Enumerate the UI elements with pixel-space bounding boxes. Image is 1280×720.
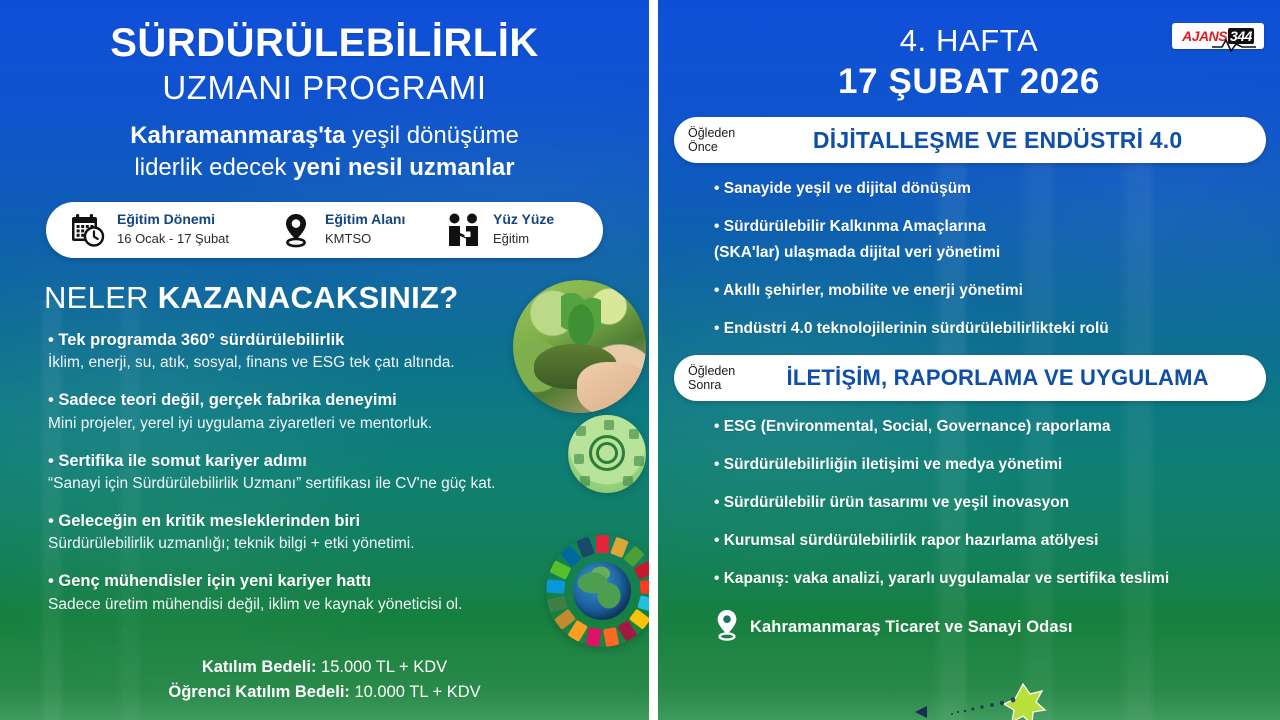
price-label-student: Öğrenci Katılım Bedeli: xyxy=(168,683,350,701)
info-cell-place: Eğitim Alanı KMTSO xyxy=(276,210,444,250)
benefits-list: • Tek programda 360° sürdürülebilirlik İ… xyxy=(48,330,518,616)
afternoon-topics-list: • ESG (Environmental, Social, Governance… xyxy=(714,415,1259,591)
benefit-desc: Sadece üretim mühendisi değil, iklim ve … xyxy=(48,595,518,616)
topic-item: • Sürdürülebilir Kalkınma Amaçlarına xyxy=(714,215,1259,239)
info-cell-format: Yüz Yüze Eğitim xyxy=(444,210,612,250)
topic-item: • Kurumsal sürdürülebilirlik rapor hazır… xyxy=(714,529,1259,553)
benefit-desc: “Sanayi için Sürdürülebilirlik Uzmanı” s… xyxy=(48,474,518,495)
morning-topics-list: • Sanayide yeşil ve dijital dönüşüm • Sü… xyxy=(714,177,1259,341)
agency-logo: AJANS 344 xyxy=(1172,20,1264,52)
left-title-block: SÜRDÜRÜLEBİLİRLİK UZMANI PROGRAMI xyxy=(0,0,649,108)
topic-item: • Sanayide yeşil ve dijital dönüşüm xyxy=(714,177,1259,201)
benefit-desc: Sürdürülebilirlik uzmanlığı; teknik bilg… xyxy=(48,534,518,555)
benefits-heading-normal: NELER xyxy=(44,280,158,315)
program-title-line2: UZMANI PROGRAMI xyxy=(0,67,649,108)
benefit-item: • Sertifika ile somut kariyer adımı “San… xyxy=(48,451,518,495)
topic-item-continuation: (SKA'lar) ulaşmada dijital veri yönetimi xyxy=(714,241,1259,265)
calendar-clock-icon xyxy=(68,210,108,250)
venue-block: Kahramanmaraş Ticaret ve Sanayi Odası xyxy=(714,609,1280,646)
week-date: 17 ŞUBAT 2026 xyxy=(658,61,1280,103)
benefit-item: • Sadece teori değil, gerçek fabrika den… xyxy=(48,390,518,434)
location-pin-icon xyxy=(714,609,740,646)
topic-item: • Kapanış: vaka analizi, yararlı uygulam… xyxy=(714,567,1259,591)
info-period-label: Eğitim Dönemi xyxy=(117,211,215,227)
morning-when-line1: Öğleden xyxy=(688,126,735,140)
session-time-afternoon: Öğleden Sonra xyxy=(688,364,735,392)
topic-item: • ESG (Environmental, Social, Governance… xyxy=(714,415,1259,439)
session-title-morning: DİJİTALLEŞME VE ENDÜSTRİ 4.0 xyxy=(745,127,1250,154)
benefit-title: • Genç mühendisler için yeni kariyer hat… xyxy=(48,571,518,592)
benefit-desc: İklim, enerji, su, atık, sosyal, finans … xyxy=(48,353,518,374)
price-value-student: 10.000 TL + KDV xyxy=(350,683,481,701)
price-label-standard: Katılım Bedeli: xyxy=(202,658,317,676)
info-place-label: Eğitim Alanı xyxy=(325,211,405,227)
two-people-icon xyxy=(444,210,484,250)
subtitle-bold-experts: yeni nesil uzmanlar xyxy=(293,154,514,181)
program-subtitle: Kahramanmaraş'ta yeşil dönüşüme liderlik… xyxy=(0,120,649,183)
benefit-title: • Sadece teori değil, gerçek fabrika den… xyxy=(48,390,518,411)
price-value-standard: 15.000 TL + KDV xyxy=(316,658,447,676)
pricing-block: Katılım Bedeli: 15.000 TL + KDV Öğrenci … xyxy=(0,655,649,706)
benefit-item: • Tek programda 360° sürdürülebilirlik İ… xyxy=(48,330,518,374)
info-cell-period: Eğitim Dönemi 16 Ocak - 17 Şubat xyxy=(58,210,276,250)
program-title-line1: SÜRDÜRÜLEBİLİRLİK xyxy=(0,22,649,65)
topic-item: • Sürdürülebilirliğin iletişimi ve medya… xyxy=(714,453,1259,477)
session-title-afternoon: İLETİŞİM, RAPORLAMA VE UYGULAMA xyxy=(745,365,1250,391)
poster-root: SÜRDÜRÜLEBİLİRLİK UZMANI PROGRAMI Kahram… xyxy=(0,0,1280,720)
subtitle-text-b: liderlik edecek xyxy=(134,154,293,181)
afternoon-when-line1: Öğleden xyxy=(688,364,735,378)
panel-divider xyxy=(649,0,658,720)
topic-item: • Akıllı şehirler, mobilite ve enerji yö… xyxy=(714,279,1259,303)
session-time-morning: Öğleden Önce xyxy=(688,126,735,154)
afternoon-when-line2: Sonra xyxy=(688,378,721,392)
benefit-item: • Genç mühendisler için yeni kariyer hat… xyxy=(48,571,518,615)
benefit-desc: Mini projeler, yerel iyi uygulama ziyare… xyxy=(48,414,518,435)
left-poster-panel: SÜRDÜRÜLEBİLİRLİK UZMANI PROGRAMI Kahram… xyxy=(0,0,649,720)
right-poster-panel: 4. HAFTA 17 ŞUBAT 2026 AJANS 344 Öğleden xyxy=(658,0,1280,720)
benefit-item: • Geleceğin en kritik mesleklerinden bir… xyxy=(48,511,518,555)
pulse-line-icon xyxy=(1212,38,1256,52)
subtitle-text-a: yeşil dönüşüme xyxy=(345,122,518,149)
benefit-title: • Sertifika ile somut kariyer adımı xyxy=(48,451,518,472)
info-place-value: KMTSO xyxy=(325,231,371,246)
subtitle-bold-city: Kahramanmaraş'ta xyxy=(130,122,345,149)
benefits-heading-bold: KAZANACAKSINIZ? xyxy=(158,280,459,315)
venue-name: Kahramanmaraş Ticaret ve Sanayi Odası xyxy=(750,618,1073,637)
morning-when-line2: Önce xyxy=(688,140,718,154)
info-format-label: Yüz Yüze xyxy=(493,211,554,227)
benefits-heading: NELER KAZANACAKSINIZ? xyxy=(44,280,649,316)
week-header: 4. HAFTA 17 ŞUBAT 2026 AJANS 344 xyxy=(658,0,1280,103)
program-info-bar: Eğitim Dönemi 16 Ocak - 17 Şubat Eğitim … xyxy=(46,202,603,258)
location-pin-icon xyxy=(276,210,316,250)
benefit-title: • Tek programda 360° sürdürülebilirlik xyxy=(48,330,518,351)
session-pill-morning: Öğleden Önce DİJİTALLEŞME VE ENDÜSTRİ 4.… xyxy=(674,117,1266,163)
topic-item: • Sürdürülebilir ürün tasarımı ve yeşil … xyxy=(714,491,1259,515)
topic-item: • Endüstri 4.0 teknolojilerinin sürdürül… xyxy=(714,317,1259,341)
info-period-value: 16 Ocak - 17 Şubat xyxy=(117,231,229,246)
session-pill-afternoon: Öğleden Sonra İLETİŞİM, RAPORLAMA VE UYG… xyxy=(674,355,1266,401)
info-format-value: Eğitim xyxy=(493,231,529,246)
benefit-title: • Geleceğin en kritik mesleklerinden bir… xyxy=(48,511,518,532)
